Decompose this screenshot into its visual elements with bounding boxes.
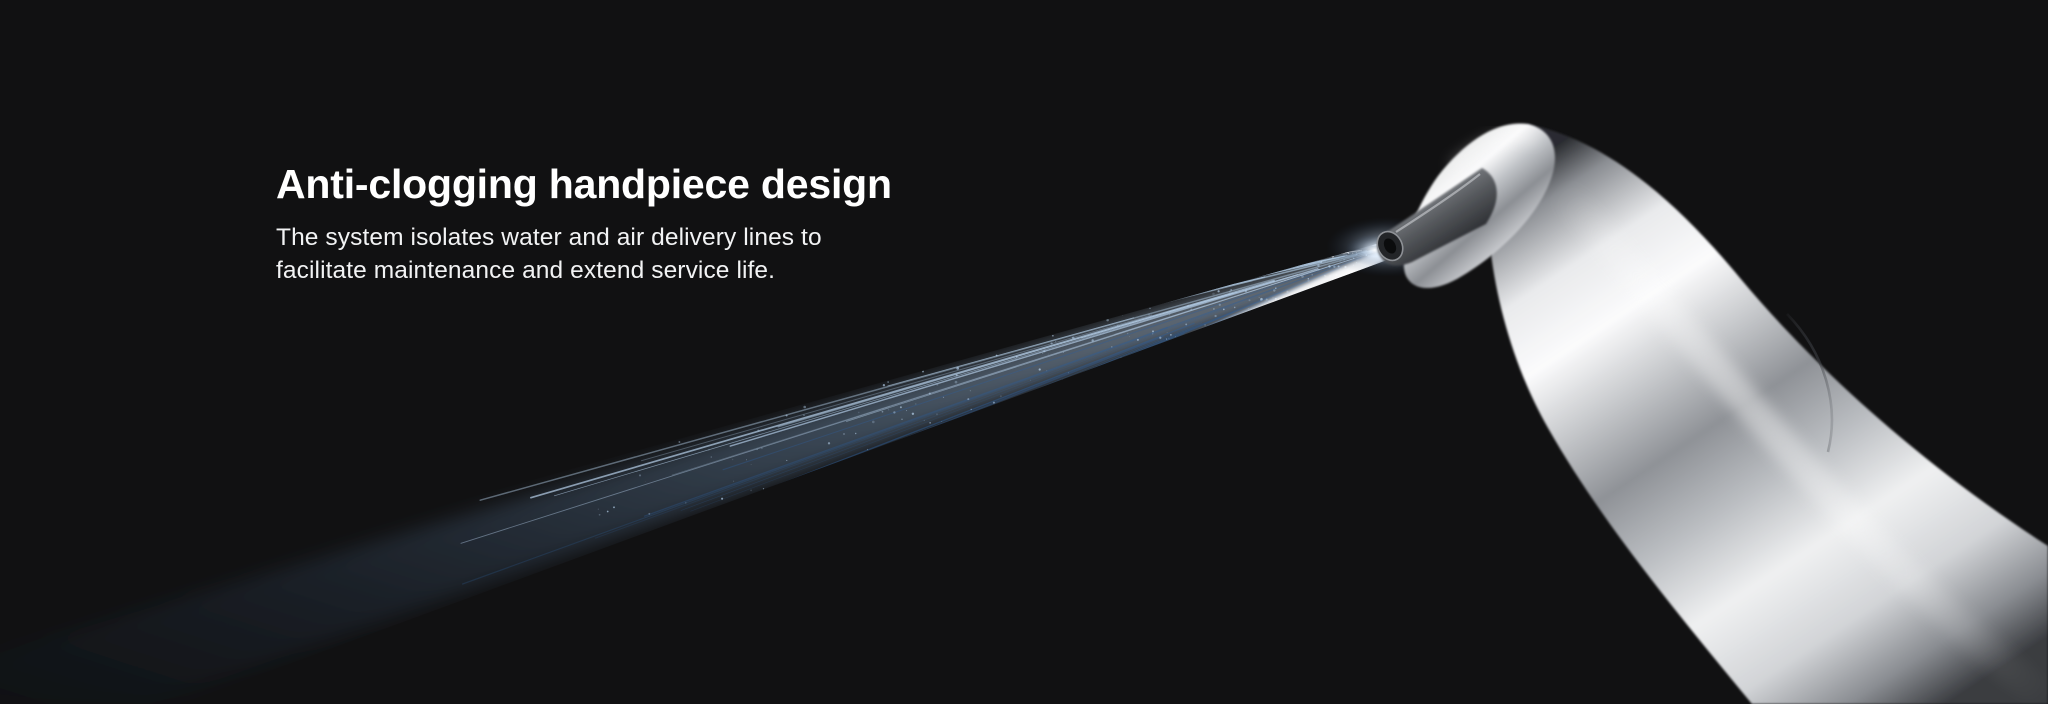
subtitle-line-1: The system isolates water and air delive… xyxy=(276,222,1036,255)
page-subtitle: The system isolates water and air delive… xyxy=(276,222,1036,287)
water-air-spray-plume xyxy=(0,0,2048,704)
handpiece-neck xyxy=(1404,123,1555,288)
hero-banner: Anti-clogging handpiece design The syste… xyxy=(0,0,2048,704)
body-seam-ring xyxy=(1787,314,1832,452)
hero-text-block: Anti-clogging handpiece design The syste… xyxy=(276,160,1036,288)
anti-clogging-nozzle-tip xyxy=(1372,168,1496,265)
brushed-metal-handpiece-body xyxy=(1487,124,2048,704)
subtitle-line-2: facilitate maintenance and extend servic… xyxy=(276,255,1036,288)
dental-air-polisher-handpiece xyxy=(0,0,2048,704)
page-title: Anti-clogging handpiece design xyxy=(276,160,1036,208)
